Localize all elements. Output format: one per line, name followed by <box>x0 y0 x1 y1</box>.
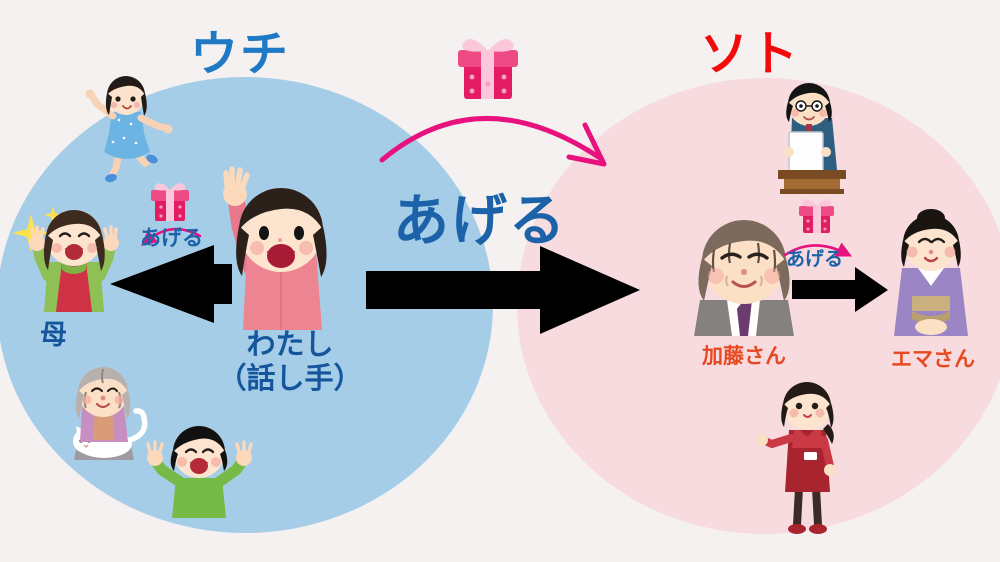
gift-box-inner-icon <box>151 183 189 221</box>
speaker-girl-icon <box>223 169 327 330</box>
inner-group-label: ウチ <box>190 14 290 84</box>
outer-verb-label: あげる <box>786 244 843 271</box>
speaker-label-line2: （話し手） <box>205 361 375 395</box>
kato-man-icon <box>694 220 794 336</box>
presenter-at-podium-icon <box>778 83 846 194</box>
big-right-arrow <box>366 246 640 334</box>
boy-icon <box>147 426 252 518</box>
outer-group-label: ソト <box>700 14 800 84</box>
big-left-arrow <box>110 245 232 323</box>
small-right-arrow <box>792 267 888 312</box>
gift-box-flying-icon <box>458 39 518 99</box>
main-verb-label: あげる <box>393 176 567 257</box>
gift-box-outer-icon <box>799 200 834 233</box>
grandmother-with-cat-icon <box>73 367 145 460</box>
inner-verb-label: あげる <box>140 222 203 252</box>
girl-jumping-icon <box>86 76 173 183</box>
speaker-label-line1: わたし <box>205 327 375 361</box>
kato-label: 加藤さん <box>684 340 804 370</box>
diagram-canvas: ウチ ソト あげる あげる あげる 母 わたし （話し手） 加藤さん エマさん <box>0 0 1000 562</box>
mother-label: 母 <box>40 313 67 352</box>
illustration-layer <box>0 0 1000 562</box>
shop-clerk-woman-icon <box>756 382 836 534</box>
ema-label: エマさん <box>878 343 988 373</box>
ema-woman-kimono-icon <box>894 209 968 336</box>
gift-toss-curved-arrow <box>382 118 604 164</box>
mother-icon <box>29 210 119 312</box>
speaker-label: わたし （話し手） <box>205 327 375 395</box>
